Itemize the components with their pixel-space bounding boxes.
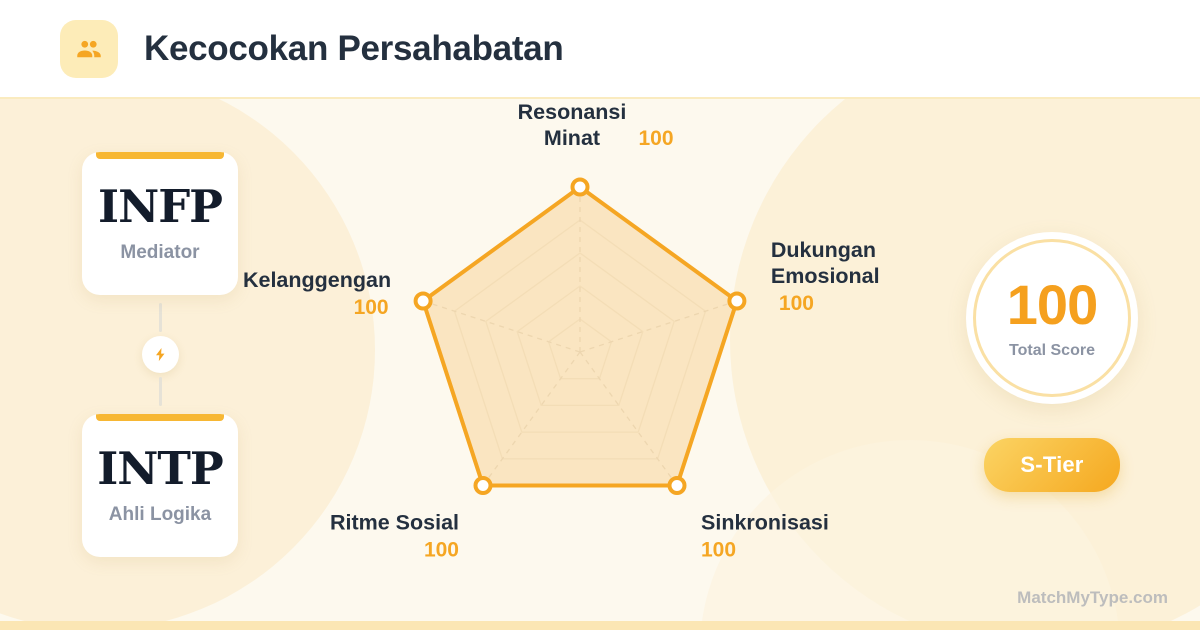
- compatibility-radar-chart: ResonansiMinat100DukunganEmosional100Sin…: [300, 100, 870, 630]
- radar-axis-value: 100: [779, 292, 814, 315]
- page-title: Kecocokan Persahabatan: [144, 29, 563, 69]
- total-score-label: Total Score: [1009, 342, 1095, 360]
- site-watermark: MatchMyType.com: [1017, 588, 1168, 608]
- bottom-accent-bar: [0, 621, 1200, 630]
- total-score-dial: 100 Total Score: [966, 232, 1138, 404]
- radar-axis-title: DukunganEmosional: [771, 238, 880, 288]
- radar-axis-value: 100: [424, 539, 459, 562]
- lightning-bolt-icon: [142, 336, 179, 373]
- radar-data-area: [423, 187, 737, 486]
- type-name: Ahli Logika: [109, 504, 211, 526]
- radar-axis-value: 100: [354, 296, 389, 319]
- radar-axis-title: Ritme Sosial: [330, 511, 459, 535]
- radar-axis-value: 100: [701, 539, 736, 562]
- type-card-second[interactable]: INTP Ahli Logika: [82, 414, 238, 557]
- radar-axis-title: Sinkronisasi: [701, 511, 829, 535]
- radar-axis-value: 100: [638, 127, 673, 150]
- compatibility-result-card: Kecocokan Persahabatan INFP Mediator INT…: [0, 0, 1200, 630]
- radar-axis-title: ResonansiMinat: [518, 100, 627, 150]
- type-name: Mediator: [120, 242, 199, 264]
- header: Kecocokan Persahabatan: [0, 0, 1200, 99]
- type-connector: [130, 295, 190, 414]
- total-score-value: 100: [1007, 277, 1097, 333]
- type-pair-panel: INFP Mediator INTP Ahli Logika: [82, 152, 238, 557]
- connector-line-bottom: [159, 377, 162, 406]
- type-code: INTP: [97, 446, 223, 491]
- type-code: INFP: [98, 184, 222, 229]
- score-panel: 100 Total Score S-Tier: [966, 232, 1138, 492]
- radar-axis-title: Kelanggengan: [243, 268, 391, 292]
- tier-badge: S-Tier: [984, 438, 1119, 492]
- connector-line-top: [159, 303, 162, 332]
- people-group-icon: [60, 20, 118, 78]
- type-card-first[interactable]: INFP Mediator: [82, 152, 238, 295]
